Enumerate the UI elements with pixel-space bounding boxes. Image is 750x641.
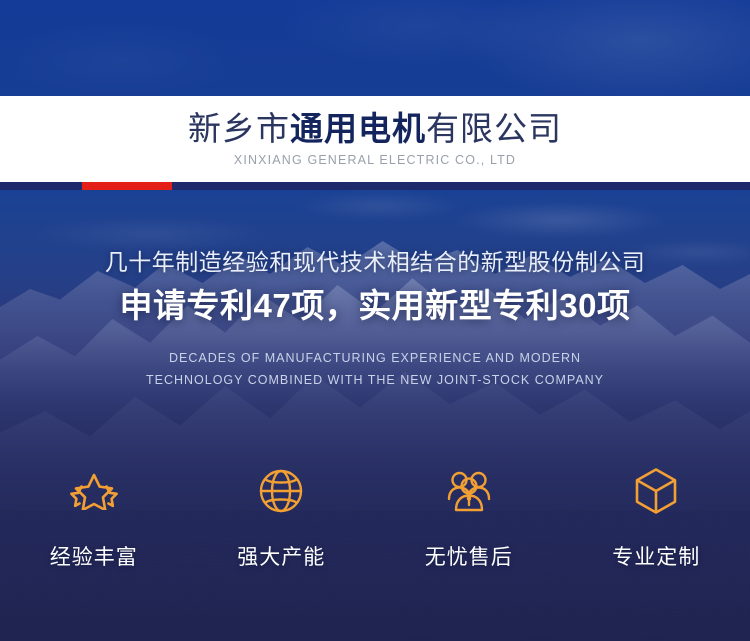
feature-item-experience[interactable]: 经验丰富 (0, 466, 188, 571)
feature-label-aftersales: 无忧售后 (425, 541, 513, 571)
people-group-icon (442, 466, 496, 516)
company-name-cn-prefix: 新乡市 (188, 110, 290, 147)
company-name-band: 新乡市通用电机有限公司 XINXIANG GENERAL ELECTRIC CO… (0, 96, 750, 182)
company-name-cn-suffix: 有限公司 (426, 110, 562, 147)
headline-block: 几十年制造经验和现代技术相结合的新型股份制公司 申请专利47项，实用新型专利30… (0, 248, 750, 392)
company-promo-banner: 新乡市通用电机有限公司 XINXIANG GENERAL ELECTRIC CO… (0, 0, 750, 641)
company-name-en: XINXIANG GENERAL ELECTRIC CO., LTD (234, 153, 516, 167)
feature-label-customization: 专业定制 (612, 541, 700, 571)
globe-icon (254, 466, 308, 516)
company-name-cn: 新乡市通用电机有限公司 (188, 111, 562, 148)
band-accent-bar (82, 182, 172, 190)
headline-en-line1: DECADES OF MANUFACTURING EXPERIENCE AND … (0, 348, 750, 370)
headline-en-line2: TECHNOLOGY COMBINED WITH THE NEW JOINT-S… (0, 370, 750, 392)
three-stars-icon (67, 466, 121, 516)
feature-row: 经验丰富 强大产能 (0, 466, 750, 571)
headline-en-block: DECADES OF MANUFACTURING EXPERIENCE AND … (0, 348, 750, 392)
feature-label-experience: 经验丰富 (50, 541, 138, 571)
feature-item-capacity[interactable]: 强大产能 (188, 466, 376, 571)
feature-item-aftersales[interactable]: 无忧售后 (375, 466, 563, 571)
feature-label-capacity: 强大产能 (237, 541, 325, 571)
cube-box-icon (629, 466, 683, 516)
headline-lead-cn: 几十年制造经验和现代技术相结合的新型股份制公司 (0, 248, 750, 277)
feature-item-customization[interactable]: 专业定制 (563, 466, 750, 571)
company-name-cn-emphasis: 通用电机 (290, 110, 426, 147)
headline-main-cn: 申请专利47项，实用新型专利30项 (0, 286, 750, 326)
